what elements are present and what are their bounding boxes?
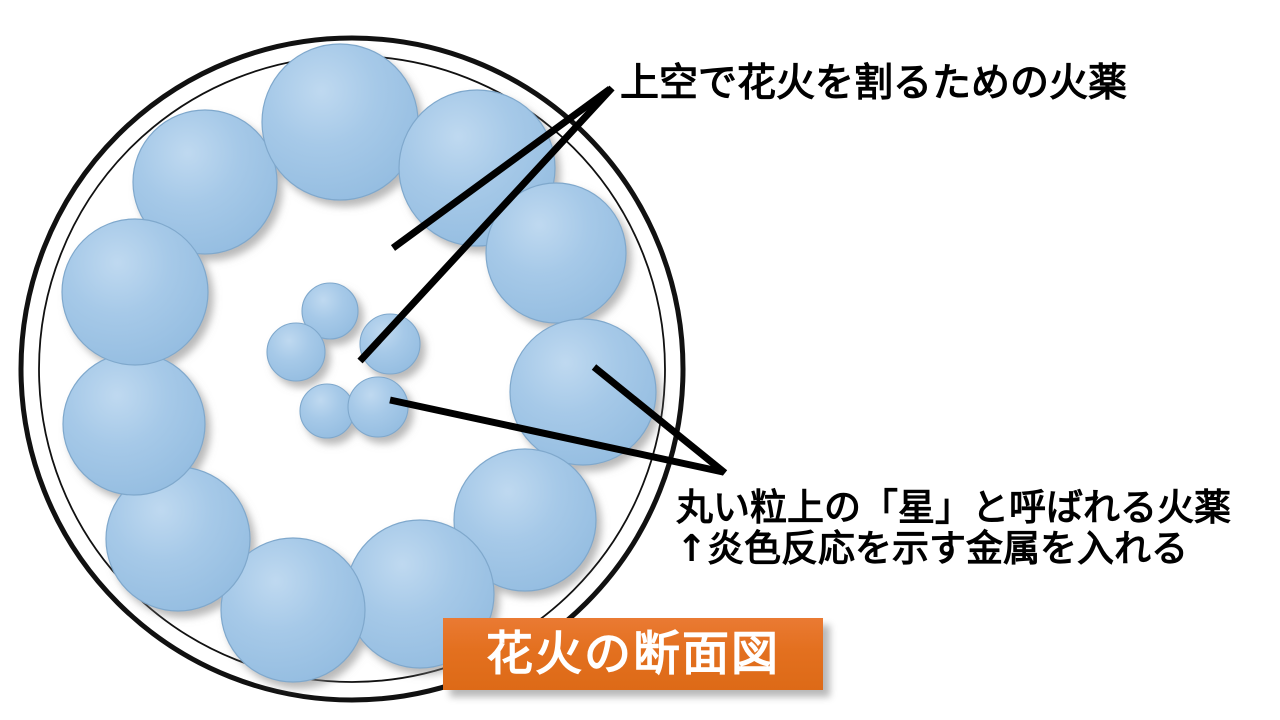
star-pellet <box>62 219 208 365</box>
shell-diagram <box>0 0 1280 720</box>
annotation-burst-charge-label: 上空で花火を割るための火薬 <box>620 62 1127 106</box>
title-badge: 花火の断面図 <box>443 618 823 690</box>
core-pellet <box>360 314 420 374</box>
fireworks-cross-section-figure: 上空で花火を割るための火薬 丸い粒上の「星」と呼ばれる火薬 ↑炎色反応を示す金属… <box>0 0 1280 720</box>
star-pellet <box>262 44 418 200</box>
core-pellet <box>348 377 408 437</box>
star-pellet <box>63 353 205 495</box>
core-pellet <box>300 384 354 438</box>
title-badge-label: 花火の断面図 <box>486 631 780 678</box>
annotation-star-line-2: ↑炎色反応を示す金属を入れる <box>676 528 1231 569</box>
annotation-star-pellet-label: 丸い粒上の「星」と呼ばれる火薬 ↑炎色反応を示す金属を入れる <box>676 487 1231 570</box>
core-pellet <box>267 323 325 381</box>
annotation-star-line-1: 丸い粒上の「星」と呼ばれる火薬 <box>676 487 1231 528</box>
